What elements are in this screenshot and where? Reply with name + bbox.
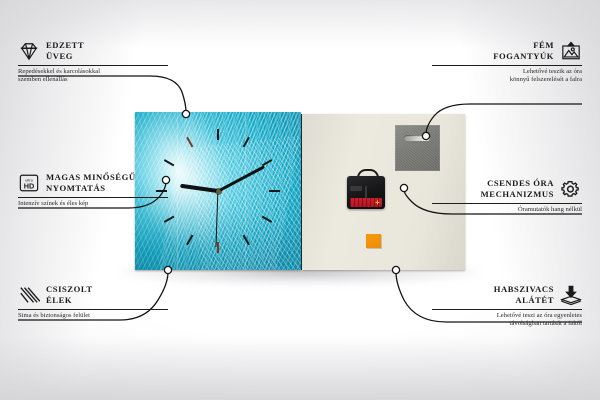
callout-title-line1: HABSZIVACS (494, 284, 554, 294)
battery: + (350, 198, 382, 207)
foam-pad-icon (560, 285, 582, 305)
callout-subtitle-line1: Sima és biztonságos felület (18, 312, 90, 319)
callout-csiszolt-elek[interactable]: CSISZOLT ÉLEK Sima és biztonságos felüle… (18, 284, 168, 320)
callout-subtitle: Repedésekkel és karcolásokkal szemben el… (18, 68, 168, 85)
callout-title-line1: EDZETT (46, 40, 84, 50)
clock-tick (217, 129, 219, 191)
callout-subtitle: Lehetővé teszi az óra egyenletes távolsá… (432, 312, 582, 329)
polished-edges-icon (18, 285, 40, 305)
battery-plus-label: + (374, 199, 381, 206)
callout-subtitle-line2: szemben ellenállás (18, 76, 68, 83)
callout-title-line1: MAGAS MINŐSÉGŰ (46, 172, 136, 182)
foam-pad (366, 234, 381, 248)
hanger-slot (404, 135, 430, 141)
callout-rule (18, 197, 168, 198)
callout-subtitle-line2: könnyű felszerelését a falra (510, 76, 582, 83)
callout-title-line1: CSISZOLT (46, 284, 93, 294)
callout-title-line2: ÉLEK (46, 295, 72, 305)
callout-subtitle-line1: Lehetővé teszi az óra egyenletes (497, 312, 582, 319)
callout-subtitle: Lehetővé teszik az óra könnyű felszerelé… (432, 68, 582, 85)
clock-center-hub (216, 189, 221, 194)
callout-subtitle: Sima és biztonságos felület (18, 312, 168, 320)
callout-head: HABSZIVACS ALÁTÉT (432, 284, 582, 306)
callout-habszivacs-alatet[interactable]: HABSZIVACS ALÁTÉT Lehetővé teszi az óra … (432, 284, 582, 329)
callout-subtitle: Óramutatók hang nélkül (432, 206, 582, 214)
callout-subtitle-line1: Intenzív színek és éles kép (18, 200, 88, 207)
callout-head: CSISZOLT ÉLEK (18, 284, 168, 306)
callout-title: MAGAS MINŐSÉGŰ NYOMTATÁS (46, 172, 136, 194)
picture-hanger-icon (560, 41, 582, 61)
callout-title: FÉM FOGANTYÚK (493, 40, 554, 62)
callout-title-line2: FOGANTYÚK (493, 51, 554, 61)
callout-rule (18, 309, 168, 310)
callout-title-line2: ALÁTÉT (515, 295, 554, 305)
callout-rule (432, 309, 582, 310)
callout-title: CSISZOLT ÉLEK (46, 284, 93, 306)
callout-title: CSENDES ÓRA MECHANIZMUS (481, 178, 554, 200)
callout-title-line2: NYOMTATÁS (46, 183, 106, 193)
metal-hanger-plate (395, 125, 440, 171)
clock-tick (164, 190, 219, 223)
ultra-hd-icon: ultra HD (18, 173, 40, 193)
callout-title-line1: FÉM (533, 40, 554, 50)
callout-subtitle-line1: Óramutatók hang nélkül (518, 206, 582, 213)
mechanism-body: + (347, 176, 385, 209)
infographic-stage: + (0, 0, 600, 400)
callout-head: EDZETT ÜVEG (18, 40, 168, 62)
callout-head: ultra HD MAGAS MINŐSÉGŰ NYOMTATÁS (18, 172, 168, 194)
product-image: + (135, 112, 465, 272)
callout-fem-fogantyuk[interactable]: FÉM FOGANTYÚK Lehetővé teszik az óra kön… (432, 40, 582, 85)
callout-subtitle-line2: távolságban tartását a faltól (510, 320, 582, 327)
callout-title-line1: CSENDES ÓRA (487, 178, 554, 188)
diamond-icon (18, 41, 40, 61)
callout-title: EDZETT ÜVEG (46, 40, 84, 62)
callout-title-line2: ÜVEG (46, 51, 73, 61)
svg-text:HD: HD (24, 181, 35, 190)
callout-title-line2: MECHANIZMUS (481, 189, 554, 199)
callout-csendes-ora-mechanizmus[interactable]: CSENDES ÓRA MECHANIZMUS Óramutatók hang … (432, 178, 582, 214)
callout-subtitle: Intenzív színek és éles kép (18, 200, 168, 208)
callout-rule (432, 65, 582, 66)
callout-title: HABSZIVACS ALÁTÉT (494, 284, 554, 306)
callout-magas-minosegu-nyomtatas[interactable]: ultra HD MAGAS MINŐSÉGŰ NYOMTATÁS Intenz… (18, 172, 168, 208)
callout-rule (18, 65, 168, 66)
callout-subtitle-line1: Lehetővé teszik az óra (523, 68, 582, 75)
clock-mechanism: + (347, 169, 385, 209)
callout-head: CSENDES ÓRA MECHANIZMUS (432, 178, 582, 200)
gear-icon (560, 179, 582, 199)
callout-subtitle-line1: Repedésekkel és karcolásokkal (18, 68, 100, 75)
callout-edzett-uveg[interactable]: EDZETT ÜVEG Repedésekkel és karcolásokka… (18, 40, 168, 85)
callout-head: FÉM FOGANTYÚK (432, 40, 582, 62)
callout-rule (432, 203, 582, 204)
clock-tick (218, 190, 280, 192)
